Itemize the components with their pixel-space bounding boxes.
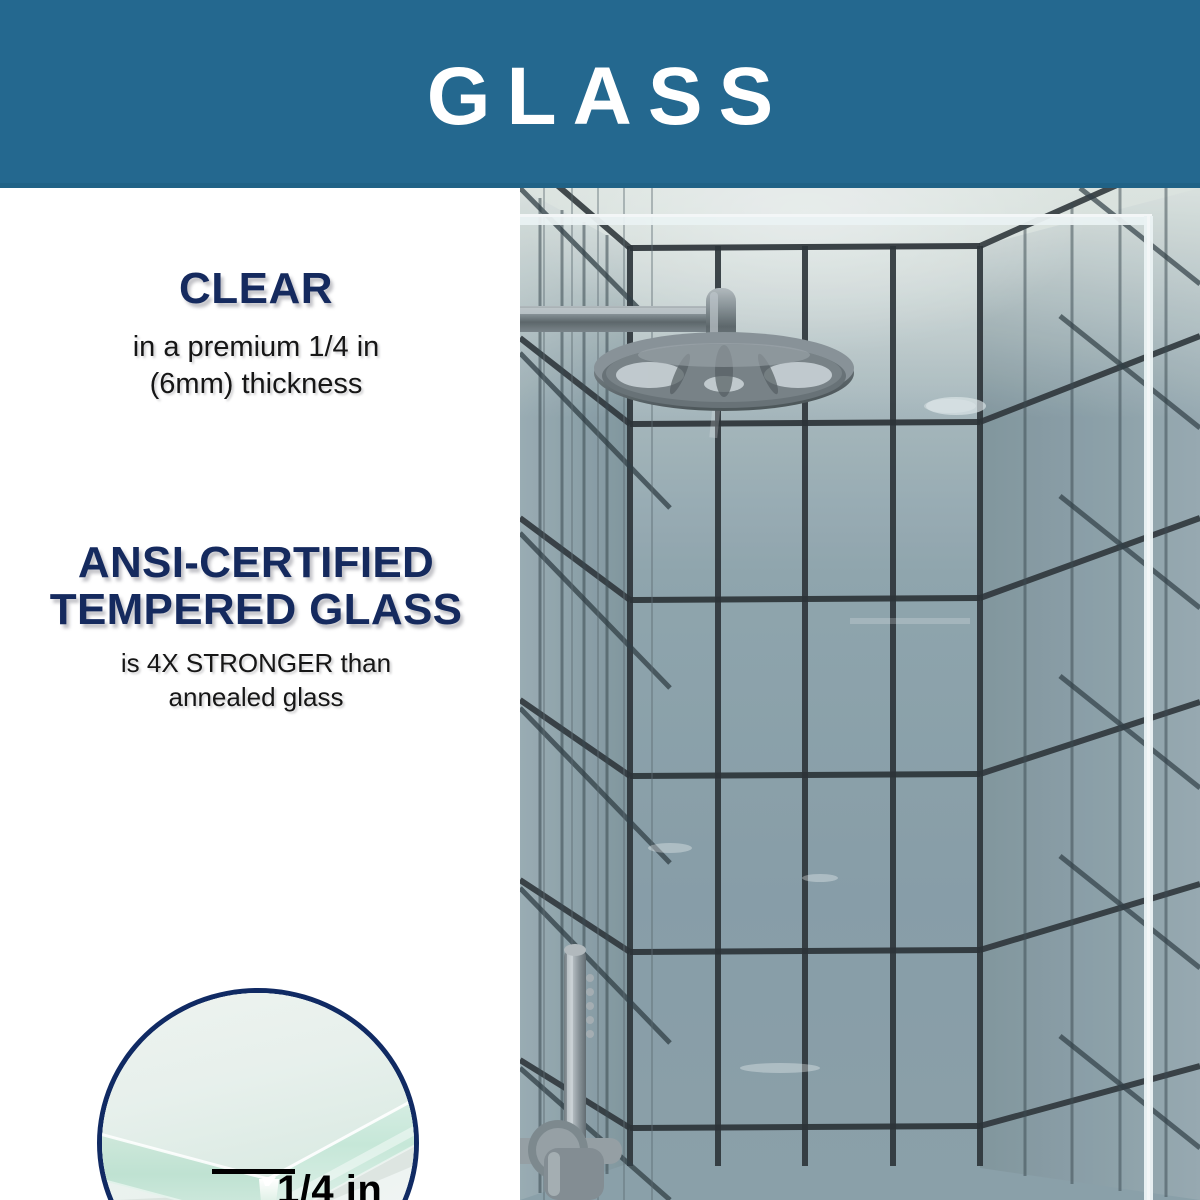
feature-subtext-clear-line-2: (6mm) thickness [6,366,506,403]
feature-subtext-tempered-line-2: annealed glass [6,681,506,714]
left-info-panel: CLEAR in a premium 1/4 in (6mm) thicknes… [0,188,520,1200]
shower-scene [520,188,1200,1200]
feature-block-tempered: ANSI-CERTIFIED TEMPERED GLASS is 4X STRO… [6,540,506,714]
feature-heading-clear: CLEAR [6,266,506,313]
feature-heading-tempered: ANSI-CERTIFIED TEMPERED GLASS [6,540,506,633]
feature-subtext-clear: in a premium 1/4 in (6mm) thickness [6,329,506,403]
thickness-diagram: 1/4 in (6mm) [97,988,419,1200]
infographic-page: GLASS CLEAR in a premium 1/4 in (6mm) th… [0,0,1200,1200]
feature-heading-tempered-line-2: TEMPERED GLASS [6,587,506,634]
page-title: GLASS [0,0,1200,188]
feature-block-clear: CLEAR in a premium 1/4 in (6mm) thicknes… [6,266,506,403]
feature-subtext-clear-line-1: in a premium 1/4 in [6,329,506,366]
feature-subtext-tempered: is 4X STRONGER than annealed glass [6,647,506,714]
feature-heading-tempered-line-1: ANSI-CERTIFIED [6,540,506,587]
measurement-label-inches: 1/4 in [277,1170,382,1200]
feature-subtext-tempered-line-1: is 4X STRONGER than [6,647,506,680]
shower-photo [520,188,1200,1200]
header-banner: GLASS [0,0,1200,188]
